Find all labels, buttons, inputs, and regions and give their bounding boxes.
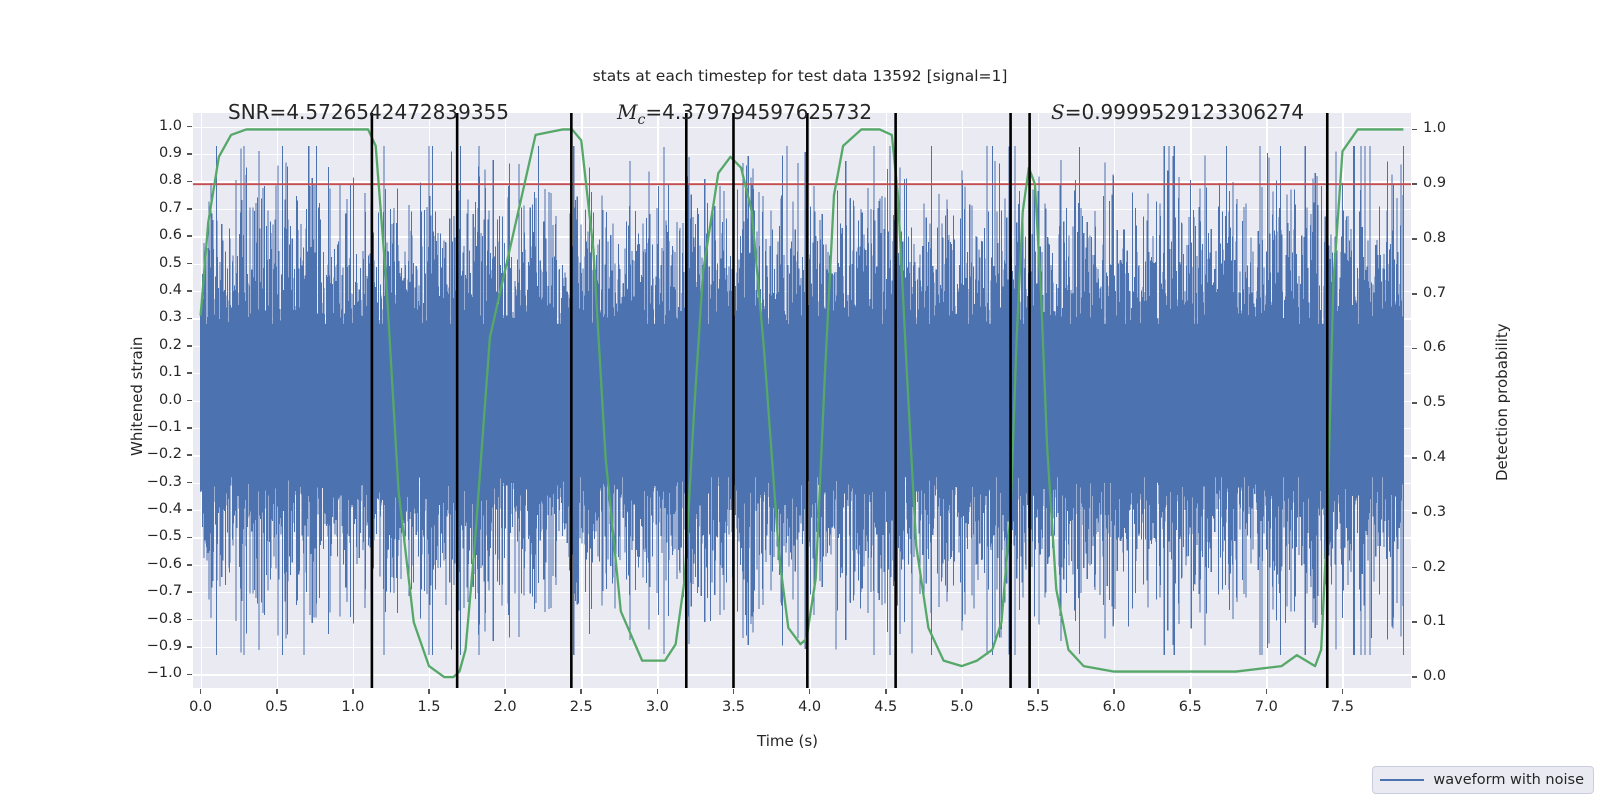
y-tick-label-left: −0.4 <box>127 501 182 517</box>
y-tick-mark-right <box>1412 183 1417 185</box>
y-tick-mark-right <box>1412 676 1417 678</box>
annotation-s-label: = <box>1065 100 1082 124</box>
x-tick-mark <box>733 689 735 694</box>
y-tick-mark-right <box>1412 457 1417 459</box>
y-tick-label-right: 1.0 <box>1423 120 1446 136</box>
x-tick-label: 7.5 <box>1312 699 1372 715</box>
x-tick-label: 1.0 <box>323 699 383 715</box>
y-tick-label-left: −0.7 <box>127 583 182 599</box>
y-tick-label-right: 0.9 <box>1423 175 1446 191</box>
y-tick-mark-left <box>187 153 192 155</box>
y-tick-label-right: 0.0 <box>1423 668 1446 684</box>
y-tick-mark-left <box>187 674 192 676</box>
annotation-s-value: 0.9999529123306274 <box>1081 100 1304 124</box>
x-tick-label: 2.5 <box>551 699 611 715</box>
y-tick-label-right: 0.1 <box>1423 613 1446 629</box>
legend-label-waveform: waveform with noise <box>1433 772 1584 788</box>
annotation-s: S=0.9999529123306274 <box>1051 100 1304 124</box>
annotation-snr: SNR=4.5726542472839355 <box>228 100 509 124</box>
figure-canvas: stats at each timestep for test data 135… <box>0 0 1600 800</box>
y-tick-label-right: 0.5 <box>1423 394 1446 410</box>
y-tick-mark-left <box>187 427 192 429</box>
data-layer <box>193 113 1411 688</box>
x-tick-mark <box>885 689 887 694</box>
x-tick-mark <box>809 689 811 694</box>
y-tick-label-left: 1.0 <box>127 118 182 134</box>
y-axis-label-right: Detection probability <box>1493 323 1511 481</box>
y-tick-mark-left <box>187 235 192 237</box>
y-tick-mark-left <box>187 372 192 374</box>
annotation-s-var: S <box>1051 100 1065 124</box>
x-tick-mark <box>657 689 659 694</box>
x-tick-label: 3.0 <box>627 699 687 715</box>
x-tick-label: 4.0 <box>780 699 840 715</box>
plot-axes <box>193 113 1411 688</box>
x-tick-mark <box>200 689 202 694</box>
y-tick-label-left: −0.8 <box>127 611 182 627</box>
y-tick-mark-right <box>1412 567 1417 569</box>
y-tick-mark-right <box>1412 129 1417 131</box>
y-tick-mark-left <box>187 126 192 128</box>
y-tick-mark-left <box>187 290 192 292</box>
y-tick-mark-left <box>187 318 192 320</box>
x-tick-label: 0.5 <box>247 699 307 715</box>
x-tick-mark <box>961 689 963 694</box>
x-tick-mark <box>1113 689 1115 694</box>
x-tick-label: 1.5 <box>399 699 459 715</box>
x-tick-label: 7.0 <box>1236 699 1296 715</box>
y-tick-label-right: 0.4 <box>1423 449 1446 465</box>
x-tick-mark <box>352 689 354 694</box>
x-tick-label: 6.0 <box>1084 699 1144 715</box>
x-tick-mark <box>1342 689 1344 694</box>
y-tick-label-left: −0.9 <box>127 638 182 654</box>
y-tick-mark-left <box>187 591 192 593</box>
x-tick-mark <box>504 689 506 694</box>
y-tick-mark-right <box>1412 512 1417 514</box>
y-tick-mark-right <box>1412 402 1417 404</box>
x-tick-label: 5.5 <box>1008 699 1068 715</box>
page-title: stats at each timestep for test data 135… <box>0 67 1600 85</box>
y-tick-label-left: 0.5 <box>127 255 182 271</box>
y-axis-label-left: Whitened strain <box>128 336 146 455</box>
y-tick-mark-left <box>187 537 192 539</box>
y-tick-mark-left <box>187 646 192 648</box>
y-tick-label-left: 0.3 <box>127 309 182 325</box>
x-tick-mark <box>1037 689 1039 694</box>
x-tick-mark <box>428 689 430 694</box>
y-tick-mark-right <box>1412 348 1417 350</box>
y-tick-label-left: −1.0 <box>127 665 182 681</box>
x-tick-mark <box>276 689 278 694</box>
y-tick-label-left: −0.5 <box>127 528 182 544</box>
y-tick-label-right: 0.2 <box>1423 559 1446 575</box>
y-tick-mark-left <box>187 482 192 484</box>
y-tick-label-left: 0.6 <box>127 227 182 243</box>
y-tick-label-left: 0.4 <box>127 282 182 298</box>
x-tick-label: 0.0 <box>171 699 231 715</box>
y-tick-label-left: 0.7 <box>127 200 182 216</box>
x-tick-label: 5.0 <box>932 699 992 715</box>
y-tick-label-right: 0.7 <box>1423 285 1446 301</box>
y-tick-label-right: 0.6 <box>1423 339 1446 355</box>
y-tick-mark-left <box>187 345 192 347</box>
y-tick-mark-right <box>1412 238 1417 240</box>
y-tick-mark-left <box>187 564 192 566</box>
legend[interactable]: waveform with noise <box>1372 766 1594 794</box>
y-tick-mark-left <box>187 454 192 456</box>
y-tick-mark-left <box>187 208 192 210</box>
y-tick-mark-left <box>187 400 192 402</box>
y-tick-label-left: −0.3 <box>127 474 182 490</box>
annotation-mc-label: = <box>645 100 662 124</box>
x-tick-mark <box>1266 689 1268 694</box>
y-tick-mark-right <box>1412 293 1417 295</box>
x-axis-label: Time (s) <box>757 732 818 750</box>
legend-line-swatch <box>1380 779 1424 781</box>
annotation-snr-value: 4.5726542472839355 <box>286 100 509 124</box>
y-tick-label-right: 0.8 <box>1423 230 1446 246</box>
annotation-mc-value: 4.379794597625732 <box>662 100 872 124</box>
annotation-mc-var: M <box>617 100 637 124</box>
y-tick-mark-left <box>187 619 192 621</box>
x-tick-label: 4.5 <box>856 699 916 715</box>
y-tick-mark-right <box>1412 621 1417 623</box>
y-tick-label-left: 0.9 <box>127 145 182 161</box>
x-tick-label: 3.5 <box>703 699 763 715</box>
y-tick-label-left: −0.6 <box>127 556 182 572</box>
x-tick-label: 6.5 <box>1160 699 1220 715</box>
annotation-snr-label: SNR= <box>228 100 286 124</box>
x-tick-mark <box>580 689 582 694</box>
x-tick-mark <box>1189 689 1191 694</box>
y-tick-mark-left <box>187 263 192 265</box>
annotation-mc: Mc=4.379794597625732 <box>617 100 872 128</box>
y-tick-mark-left <box>187 181 192 183</box>
y-tick-label-left: 0.8 <box>127 172 182 188</box>
y-tick-label-right: 0.3 <box>1423 504 1446 520</box>
x-tick-label: 2.0 <box>475 699 535 715</box>
y-tick-mark-left <box>187 509 192 511</box>
